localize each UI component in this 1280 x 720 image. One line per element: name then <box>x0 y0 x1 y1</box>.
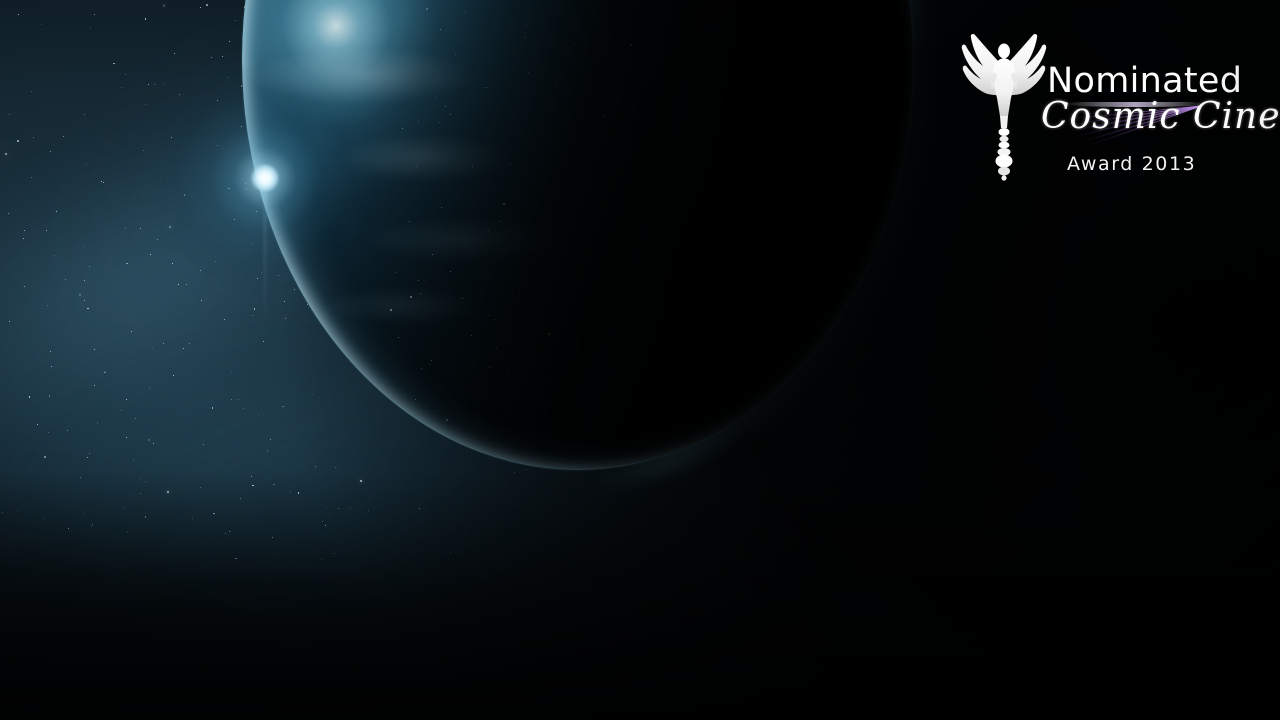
badge-festival-name: Cosmic Cine <box>1041 99 1280 135</box>
title-block: PARADISE OR OBLIVION (PARADIES ODER VERG… <box>0 498 1280 516</box>
badge-award-line: Award 2013 <box>1067 155 1196 174</box>
movie-title-card: Nominated <box>0 0 1280 720</box>
badge-nominated-label: Nominated <box>1047 64 1242 99</box>
angel-statuette-icon <box>961 22 1047 182</box>
award-badge: Nominated <box>955 14 1220 186</box>
